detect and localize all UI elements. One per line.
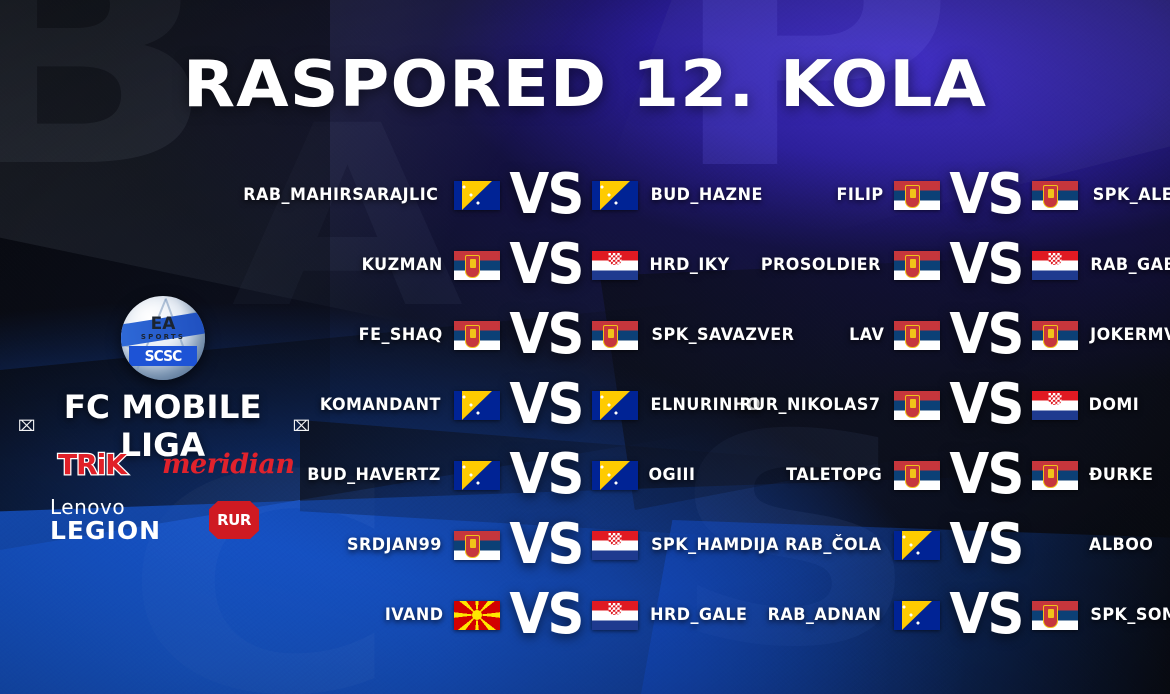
player-name-away: OGIII [648, 465, 695, 485]
match-row: RAB_ADNANVSSPK_SOMZI [740, 580, 1170, 650]
match-home-side: FILIP [740, 181, 940, 210]
player-name-away: ALBOO [1089, 535, 1153, 555]
vs-label: VS [944, 593, 1029, 638]
flag-bosnia-icon [894, 601, 940, 630]
vs-label: VS [944, 243, 1029, 288]
flag-bosnia-icon [592, 461, 638, 490]
player-name-away: SPK_ALESANDAR94 [1093, 185, 1170, 205]
player-name-home: RUR_NIKOLAS7 [740, 395, 881, 415]
flag-serbia-icon [894, 251, 940, 280]
vs-label: VS [944, 313, 1029, 358]
player-name-away: DOMI [1089, 395, 1140, 415]
match-home-side: TALETOPG [740, 461, 940, 490]
match-away-side: JOKERMVP [1032, 321, 1170, 350]
player-name-home: BUD_HAVERTZ [307, 465, 441, 485]
vs-label: VS [504, 523, 589, 568]
match-home-side: RAB_MAHIRSARAJLIC [300, 181, 500, 210]
match-home-side: FE_SHAQ [300, 321, 500, 350]
match-home-side: KUZMAN [300, 251, 500, 280]
flag-serbia-icon [454, 531, 500, 560]
flag-serbia-icon [454, 321, 500, 350]
match-home-side: BUD_HAVERTZ [300, 461, 500, 490]
player-name-home: PROSOLDIER [761, 255, 881, 275]
flag-serbia-icon [1032, 601, 1078, 630]
player-name-home: KOMANDANT [320, 395, 441, 415]
flag-bosnia-icon [454, 461, 500, 490]
match-home-side: KOMANDANT [300, 391, 500, 420]
match-home-side: SRDJAN99 [300, 531, 500, 560]
player-name-away: JOKERMVP [1090, 325, 1170, 345]
player-name-home: RAB_ČOLA [785, 535, 881, 555]
flag-serbia-icon [1032, 461, 1078, 490]
vs-label: VS [504, 173, 589, 218]
player-name-away: ĐURKE [1089, 465, 1153, 485]
player-name-away: HRD_GALE [650, 605, 747, 625]
sponsor-rur-logo: RUR [209, 501, 259, 539]
page-title: RASPORED 12. KOLA [0, 48, 1170, 122]
flag-serbia-icon [1032, 181, 1078, 210]
player-name-home: RAB_MAHIRSARAJLIC [244, 185, 439, 205]
player-name-away: RAB_GABI7 [1090, 255, 1170, 275]
vs-label: VS [504, 313, 589, 358]
ea-sports-label: EA SPORTS [121, 316, 205, 341]
match-row: RAB_ČOLAVSALBOO [740, 510, 1170, 580]
vs-label: VS [944, 383, 1029, 428]
flag-serbia-icon [894, 461, 940, 490]
fixtures-column-right: FILIPVSSPK_ALESANDAR94PROSOLDIERVSRAB_GA… [740, 160, 1170, 650]
vs-label: VS [944, 173, 1029, 218]
match-row: TALETOPGVSĐURKE [740, 440, 1170, 510]
scsc-band: SCSC [129, 346, 197, 366]
flag-bosnia-icon [454, 181, 500, 210]
player-name-home: SRDJAN99 [347, 535, 442, 555]
flag-serbia-icon [1032, 321, 1078, 350]
sponsor-trik-logo: TRiK [58, 448, 126, 481]
match-away-side: ALBOO [1032, 531, 1170, 560]
vs-label: VS [504, 453, 589, 498]
match-home-side: RAB_ČOLA [740, 531, 940, 560]
player-name-home: IVAND [385, 605, 444, 625]
flag-none [1032, 531, 1078, 560]
match-home-side: IVAND [300, 601, 500, 630]
match-away-side: RAB_GABI7 [1032, 251, 1170, 280]
match-away-side: SPK_SOMZI [1032, 601, 1170, 630]
flag-bosnia-icon [592, 391, 638, 420]
flag-bosnia-icon [894, 531, 940, 560]
flag-bosnia-icon [592, 181, 638, 210]
match-home-side: RAB_ADNAN [740, 601, 940, 630]
flag-croatia-icon [592, 601, 638, 630]
vs-label: VS [504, 383, 589, 428]
flag-bosnia-icon [454, 391, 500, 420]
player-name-home: KUZMAN [361, 255, 442, 275]
match-home-side: LAV [740, 321, 940, 350]
match-row: LAVVSJOKERMVP [740, 300, 1170, 370]
vs-label: VS [504, 243, 589, 288]
vs-label: VS [944, 453, 1029, 498]
vs-label: VS [504, 593, 589, 638]
flag-croatia-icon [1032, 251, 1078, 280]
flag-serbia-icon [454, 251, 500, 280]
match-row: FILIPVSSPK_ALESANDAR94 [740, 160, 1170, 230]
player-name-home: TALETOPG [786, 465, 882, 485]
flag-croatia-icon [1032, 391, 1078, 420]
player-name-home: FILIP [836, 185, 883, 205]
match-home-side: RUR_NIKOLAS7 [740, 391, 940, 420]
flag-serbia-icon [894, 391, 940, 420]
vs-label: VS [944, 523, 1029, 568]
player-name-away: HRD_IKY [650, 255, 730, 275]
brand-block: EA SPORTS SCSC ⌧ FC MOBILE LIGA ⌧ [18, 296, 308, 464]
flag-serbia-icon [894, 321, 940, 350]
match-home-side: PROSOLDIER [740, 251, 940, 280]
player-name-home: RAB_ADNAN [768, 605, 882, 625]
sponsor-meridian-logo: meridian [162, 449, 295, 480]
ornament-left-icon: ⌧ [18, 417, 33, 435]
sponsor-block: TRiK meridian Lenovo LEGION RUR [36, 448, 302, 543]
match-away-side: ĐURKE [1032, 461, 1170, 490]
flag-croatia-icon [592, 531, 638, 560]
flag-serbia-icon [894, 181, 940, 210]
fixture-graphic: B P C S A RASPORED 12. KOLA EA SPORTS SC… [0, 0, 1170, 694]
flag-serbia-icon [592, 321, 638, 350]
match-row: RUR_NIKOLAS7VSDOMI [740, 370, 1170, 440]
flag-north-macedonia-icon [454, 601, 500, 630]
match-row: PROSOLDIERVSRAB_GABI7 [740, 230, 1170, 300]
ea-sports-ball-icon: EA SPORTS SCSC [121, 296, 205, 380]
player-name-home: FE_SHAQ [358, 325, 442, 345]
player-name-home: LAV [849, 325, 884, 345]
flag-croatia-icon [592, 251, 638, 280]
player-name-away: SPK_SOMZI [1090, 605, 1170, 625]
match-away-side: SPK_ALESANDAR94 [1032, 181, 1170, 210]
sponsor-lenovo-legion-logo: Lenovo LEGION [50, 497, 161, 543]
match-away-side: DOMI [1032, 391, 1170, 420]
